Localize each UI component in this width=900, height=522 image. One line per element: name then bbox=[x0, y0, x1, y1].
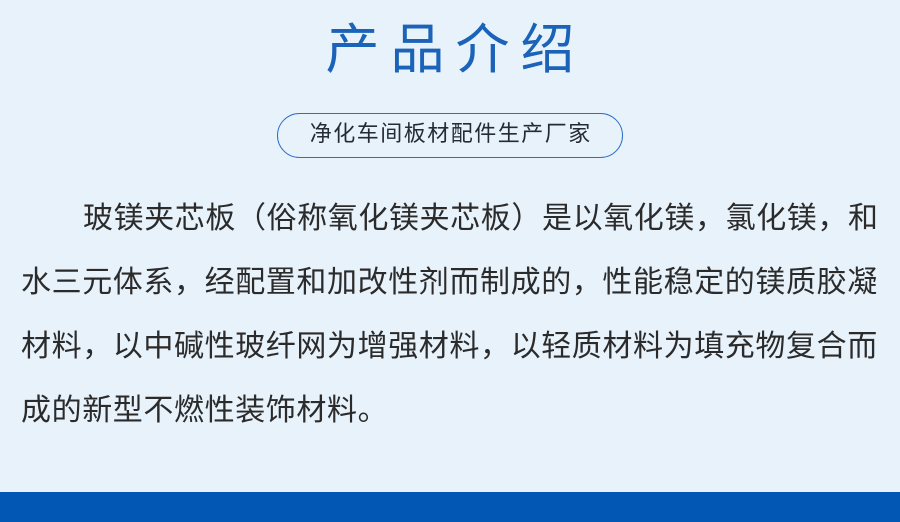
paragraph-line: 玻镁夹芯板（俗称氧化镁夹芯板）是以氧化镁，氯化镁，和 bbox=[21, 187, 883, 251]
paragraph-line: 成的新型不燃性装饰材料。 bbox=[21, 379, 883, 443]
product-intro-page: 产品介绍 净化车间板材配件生产厂家 玻镁夹芯板（俗称氧化镁夹芯板）是以氧化镁，氯… bbox=[0, 0, 900, 522]
paragraph-line: 水三元体系，经配置和加改性剂而制成的，性能稳定的镁质胶凝 bbox=[21, 251, 883, 315]
page-title-container: 产品介绍 bbox=[0, 18, 900, 82]
page-title: 产品介绍 bbox=[315, 18, 586, 82]
footer-accent-bar bbox=[0, 492, 900, 522]
paragraph-line: 材料，以中碱性玻纤网为增强材料，以轻质材料为填充物复合而 bbox=[21, 315, 883, 379]
subtitle-badge: 净化车间板材配件生产厂家 bbox=[277, 113, 623, 158]
subtitle-badge-container: 净化车间板材配件生产厂家 bbox=[0, 113, 900, 158]
intro-paragraph: 玻镁夹芯板（俗称氧化镁夹芯板）是以氧化镁，氯化镁，和 水三元体系，经配置和加改性… bbox=[21, 187, 883, 443]
